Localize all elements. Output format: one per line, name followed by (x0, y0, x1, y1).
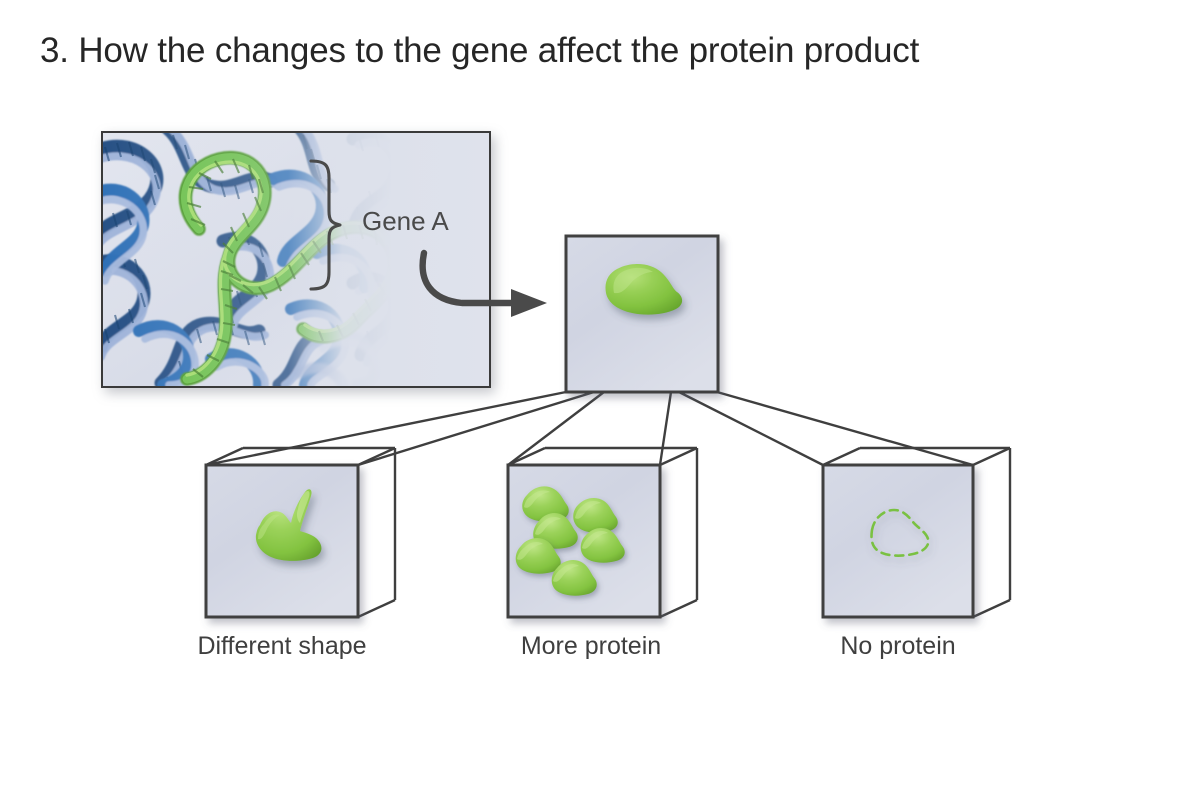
curly-brace-icon (311, 161, 340, 289)
outcome-panel-no-protein (823, 465, 973, 617)
diagram-vector-layer (0, 0, 1200, 800)
infographic-canvas: 3. How the changes to the gene affect th… (0, 0, 1200, 800)
curved-arrow-icon (423, 253, 547, 317)
connector-lines (206, 392, 973, 465)
